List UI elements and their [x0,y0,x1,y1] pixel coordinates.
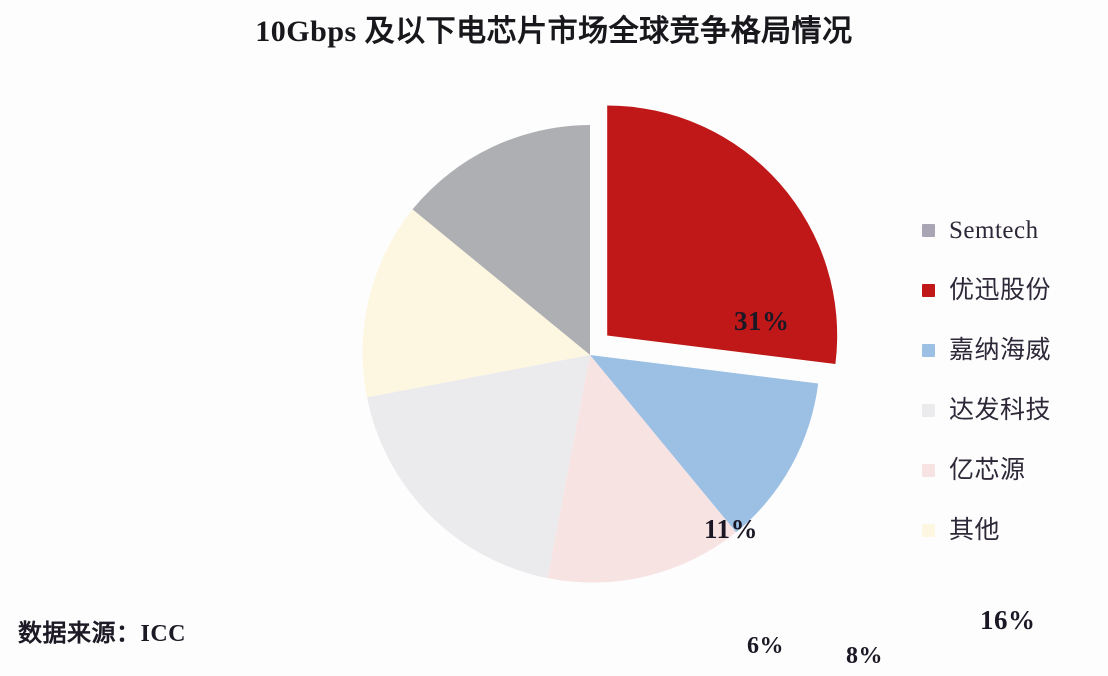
legend-swatch-icon [922,404,935,417]
pie-slices [363,106,838,583]
legend-swatch-icon [922,464,935,477]
legend-label-dafa: 达发科技 [949,398,1051,423]
legend-item-qita[interactable]: 其他 [922,500,1102,560]
pie-slice-youxun[interactable] [607,106,837,365]
pie-plot-area: 31% 28% 16% 6% 8% 11% [330,100,870,610]
legend-item-youxun[interactable]: 优迅股份 [922,260,1102,320]
pie-chart-figure: 10Gbps 及以下电芯片市场全球竞争格局情况 31% [0,0,1108,676]
pie-slice-youxun-group[interactable] [607,106,837,365]
legend-label-yixin: 亿芯源 [949,458,1026,483]
pie-label-jiana: 16% [980,605,1036,636]
legend-item-semtech[interactable]: Semtech [922,200,1102,260]
legend-swatch-icon [922,344,935,357]
legend-label-semtech: Semtech [949,218,1039,243]
legend-item-dafa[interactable]: 达发科技 [922,380,1102,440]
legend-label-youxun: 优迅股份 [949,278,1051,303]
legend-item-jiana[interactable]: 嘉纳海威 [922,320,1102,380]
pie-label-yixin: 8% [846,643,883,670]
chart-legend: Semtech 优迅股份 嘉纳海威 达发科技 亿芯源 其他 [922,200,1102,560]
legend-item-yixin[interactable]: 亿芯源 [922,440,1102,500]
pie-label-qita: 11% [704,514,758,545]
source-note: 数据来源：ICC [18,613,186,648]
legend-swatch-icon [922,524,935,537]
legend-swatch-icon [922,284,935,297]
pie-label-semtech: 31% [734,306,790,337]
chart-title: 10Gbps 及以下电芯片市场全球竞争格局情况 [0,14,1108,50]
legend-label-jiana: 嘉纳海威 [949,338,1051,363]
pie-label-dafa: 6% [747,633,784,660]
legend-swatch-icon [922,224,935,237]
legend-label-qita: 其他 [949,518,1000,543]
pie-svg [330,100,870,610]
